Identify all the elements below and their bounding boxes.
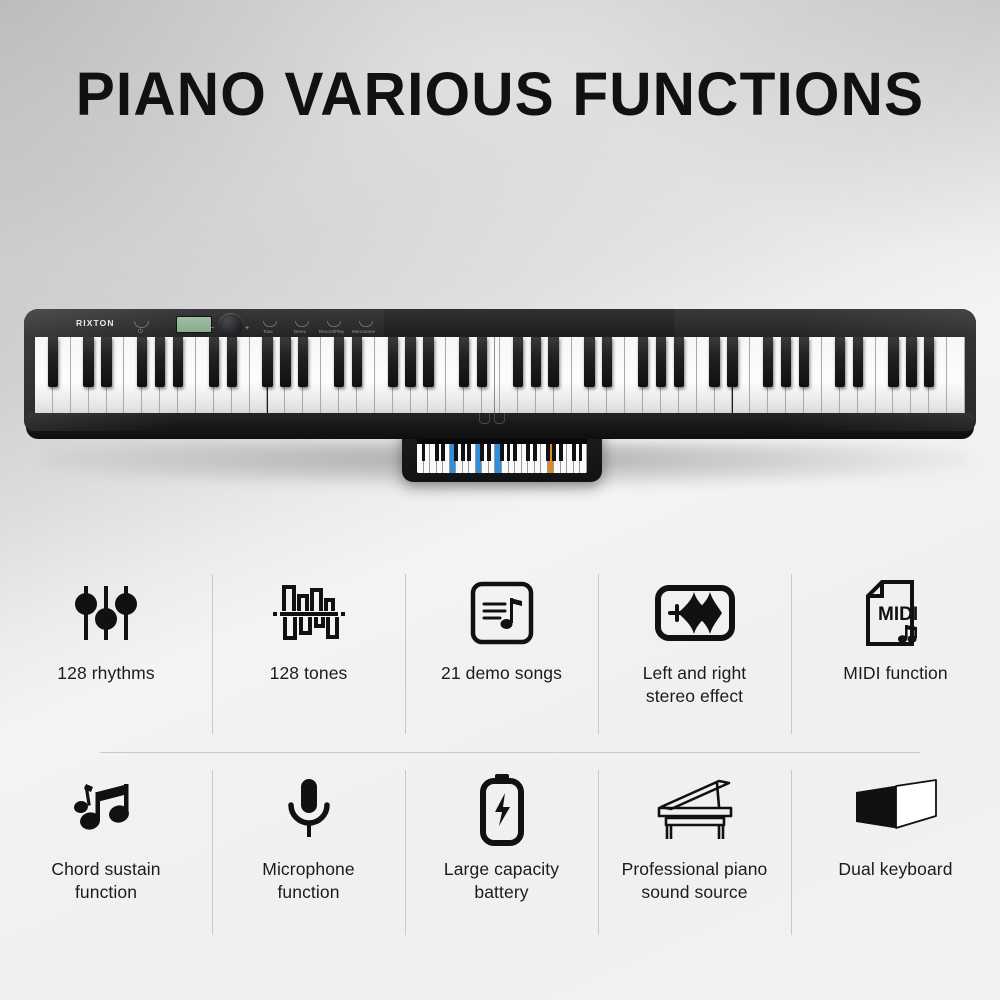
sheet-music-icon [469, 574, 535, 652]
black-key[interactable] [173, 337, 183, 387]
midi-file-icon: MIDI [865, 574, 927, 652]
grand-piano-icon [649, 770, 741, 848]
midi-icon-text: MIDI [878, 604, 918, 625]
black-key[interactable] [262, 337, 272, 387]
feature-128-rhythms: 128 rhythms [0, 556, 212, 752]
black-key[interactable] [548, 337, 558, 387]
fold-seam [494, 337, 495, 417]
feature-grid: 128 rhythms [0, 556, 1000, 956]
feature-label: Left and right stereo effect [643, 662, 747, 708]
black-key[interactable] [924, 337, 934, 387]
demo-button[interactable] [295, 321, 309, 327]
feature-row-2: Chord sustain function Microphone functi… [0, 752, 1000, 948]
stereo-speaker-icon [654, 574, 736, 652]
sliders-icon [73, 574, 139, 652]
feature-128-tones: 128 tones [212, 556, 405, 752]
black-key[interactable] [388, 337, 398, 387]
black-key[interactable] [602, 337, 612, 387]
black-key[interactable] [656, 337, 666, 387]
feature-piano-sound-source: Professional piano sound source [598, 752, 791, 948]
feature-battery: Large capacity battery [405, 752, 598, 948]
control-panel: RIXTON ⏻ − + Tone Demo Record/Play Metro… [24, 309, 976, 339]
black-key[interactable] [423, 337, 433, 387]
black-key[interactable] [280, 337, 290, 387]
black-key[interactable] [48, 337, 58, 387]
piano-keys [35, 337, 965, 417]
feature-dual-keyboard: Dual keyboard [791, 752, 1000, 948]
black-key[interactable] [101, 337, 111, 387]
black-key[interactable] [763, 337, 773, 387]
black-key[interactable] [674, 337, 684, 387]
black-key[interactable] [799, 337, 809, 387]
record-play-button-label: Record/Play [319, 329, 344, 334]
feature-label: Dual keyboard [838, 858, 952, 881]
digital-piano: RIXTON ⏻ − + Tone Demo Record/Play Metro… [24, 309, 976, 454]
black-key[interactable] [531, 337, 541, 387]
brand-logo: RIXTON [76, 318, 115, 328]
black-key[interactable] [137, 337, 147, 387]
feature-label: 128 rhythms [57, 662, 154, 685]
feature-midi: MIDI MIDI function [791, 556, 1000, 752]
black-key[interactable] [584, 337, 594, 387]
battery-bolt-icon [478, 770, 526, 848]
equalizer-bars-icon [272, 574, 346, 652]
feature-row-1: 128 rhythms [0, 556, 1000, 752]
tone-button-label: Tone [263, 329, 273, 334]
feature-chord-sustain: Chord sustain function [0, 752, 212, 948]
feature-label: Large capacity battery [444, 858, 559, 904]
metronome-button[interactable] [359, 321, 373, 327]
black-key[interactable] [477, 337, 487, 387]
value-knob[interactable] [218, 313, 243, 338]
fold-latch [479, 413, 515, 427]
black-key[interactable] [513, 337, 523, 387]
feature-microphone: Microphone function [212, 752, 405, 948]
black-key[interactable] [709, 337, 719, 387]
feature-label: Professional piano sound source [622, 858, 768, 904]
black-key[interactable] [155, 337, 165, 387]
feature-label: 21 demo songs [441, 662, 562, 685]
black-key[interactable] [638, 337, 648, 387]
black-key[interactable] [781, 337, 791, 387]
metronome-button-label: Metronome [352, 329, 375, 334]
power-button[interactable] [134, 321, 149, 328]
black-key[interactable] [405, 337, 415, 387]
feature-label: Chord sustain function [51, 858, 160, 904]
feature-stereo-effect: Left and right stereo effect [598, 556, 791, 752]
feature-label: Microphone function [262, 858, 354, 904]
feature-demo-songs: 21 demo songs [405, 556, 598, 752]
black-key[interactable] [352, 337, 362, 387]
lcd-display [176, 316, 212, 333]
black-key[interactable] [209, 337, 219, 387]
black-key[interactable] [835, 337, 845, 387]
black-key[interactable] [459, 337, 469, 387]
product-infographic: PIANO VARIOUS FUNCTIONS △ ◷ ☰ [0, 0, 1000, 1000]
black-key[interactable] [83, 337, 93, 387]
black-key[interactable] [853, 337, 863, 387]
black-key[interactable] [227, 337, 237, 387]
folding-keyboard-icon [848, 770, 944, 848]
tablet-holder-groove [384, 309, 674, 339]
power-icon: ⏻ [138, 329, 143, 336]
decrement-label: − [210, 325, 214, 332]
black-key[interactable] [334, 337, 344, 387]
record-play-button[interactable] [327, 321, 341, 327]
music-notes-icon [72, 770, 140, 848]
black-key[interactable] [298, 337, 308, 387]
page-title: PIANO VARIOUS FUNCTIONS [20, 58, 980, 130]
black-key[interactable] [906, 337, 916, 387]
tone-button[interactable] [263, 321, 277, 327]
increment-label: + [245, 325, 249, 332]
feature-label: MIDI function [843, 662, 947, 685]
black-key[interactable] [727, 337, 737, 387]
product-hero-image: △ ◷ ☰ [0, 160, 1000, 530]
feature-label: 128 tones [270, 662, 348, 685]
microphone-icon [283, 770, 335, 848]
demo-button-label: Demo [294, 329, 306, 334]
black-key[interactable] [888, 337, 898, 387]
white-key[interactable] [947, 337, 965, 417]
